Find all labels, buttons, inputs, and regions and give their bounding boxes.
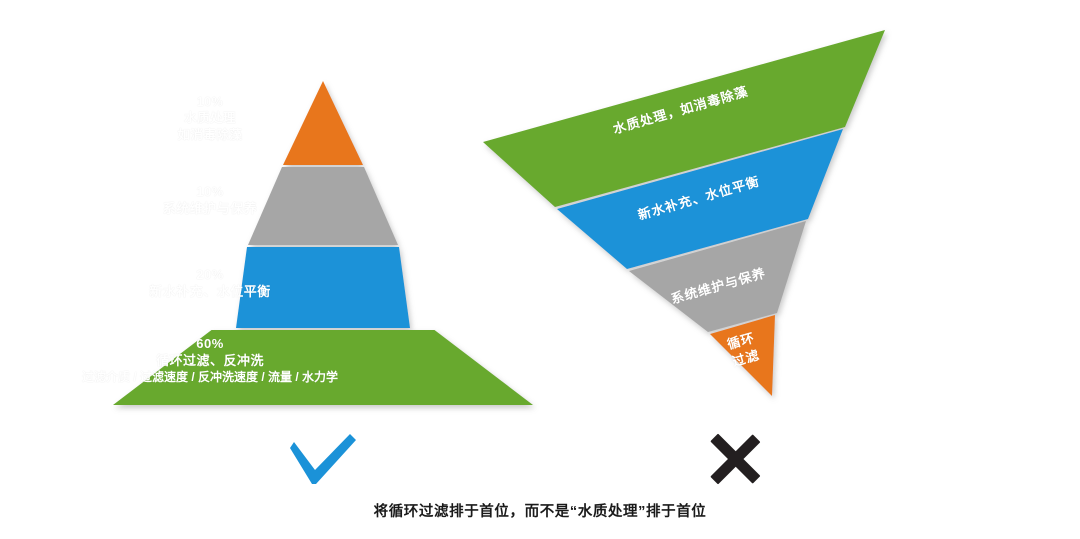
left-pyramid-group: [113, 81, 533, 405]
check-mark-icon: [286, 434, 358, 486]
left-tier-system-maintenance[interactable]: [248, 167, 398, 245]
left-tier-circulation-filtration[interactable]: [113, 330, 533, 405]
pyramid-shapes: [0, 0, 1080, 539]
cross-mark-icon: [706, 430, 764, 488]
left-tier-water-quality[interactable]: [283, 81, 363, 165]
slide-canvas: 10% 水质处理 如消毒除藻 10% 系统维护与保养 20% 新水补充、水位平衡…: [0, 0, 1080, 539]
left-tier-water-makeup[interactable]: [236, 247, 410, 328]
right-inverted-pyramid-group: [483, 30, 885, 396]
footer-caption: 将循环过滤排于首位，而不是“水质处理”排于首位: [0, 500, 1080, 521]
